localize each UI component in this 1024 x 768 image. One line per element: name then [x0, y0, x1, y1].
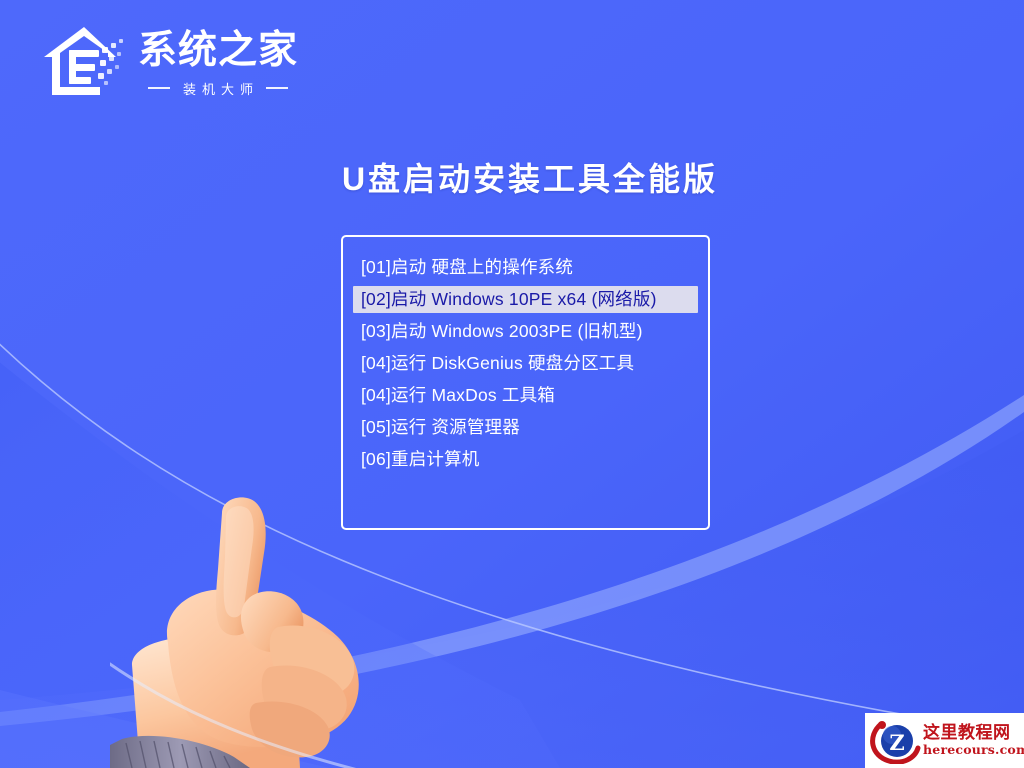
brand-name: 系统之家: [138, 31, 298, 70]
boot-menu-screen: 系统之家 装机大师 U盘启动安装工具全能版 [01]启动 硬盘上的操作系统 [0…: [0, 0, 1024, 768]
page-title: U盘启动安装工具全能版: [0, 154, 1024, 200]
boot-menu-box: [01]启动 硬盘上的操作系统 [02]启动 Windows 10PE x64 …: [341, 235, 710, 530]
menu-item-01[interactable]: [01]启动 硬盘上的操作系统: [353, 254, 698, 281]
menu-item-05[interactable]: [05]运行 资源管理器: [353, 414, 698, 441]
brand-subtitle-row: 装机大师: [138, 79, 298, 98]
watermark-site-url: herecours.com: [923, 743, 1024, 757]
boot-menu-list: [01]启动 硬盘上的操作系统 [02]启动 Windows 10PE x64 …: [343, 254, 708, 473]
pointing-hand-illustration: [110, 495, 440, 768]
watermark-text: 这里教程网 herecours.com: [923, 724, 1024, 758]
menu-item-03[interactable]: [03]启动 Windows 2003PE (旧机型): [353, 318, 698, 345]
brand-subtitle: 装机大师: [177, 79, 259, 98]
brand-dash-right-icon: [266, 87, 288, 89]
svg-text:Z: Z: [889, 730, 904, 755]
watermark: Z 这里教程网 herecours.com: [865, 713, 1024, 768]
menu-item-02[interactable]: [02]启动 Windows 10PE x64 (网络版): [353, 286, 698, 313]
page-title-text: U盘启动安装工具全能版: [342, 154, 718, 200]
watermark-site-name: 这里教程网: [923, 724, 1024, 744]
menu-item-04-maxdos[interactable]: [04]运行 MaxDos 工具箱: [353, 382, 698, 409]
globe-z-logo-icon: Z: [869, 718, 921, 764]
menu-item-04-diskgenius[interactable]: [04]运行 DiskGenius 硬盘分区工具: [353, 350, 698, 377]
brand-dash-left-icon: [148, 87, 170, 89]
brand-logo: 系统之家 装机大师: [38, 18, 298, 106]
menu-item-06[interactable]: [06]重启计算机: [353, 446, 698, 473]
brand-text-block: 系统之家 装机大师: [138, 27, 298, 98]
house-pixel-logo-icon: [38, 23, 130, 101]
